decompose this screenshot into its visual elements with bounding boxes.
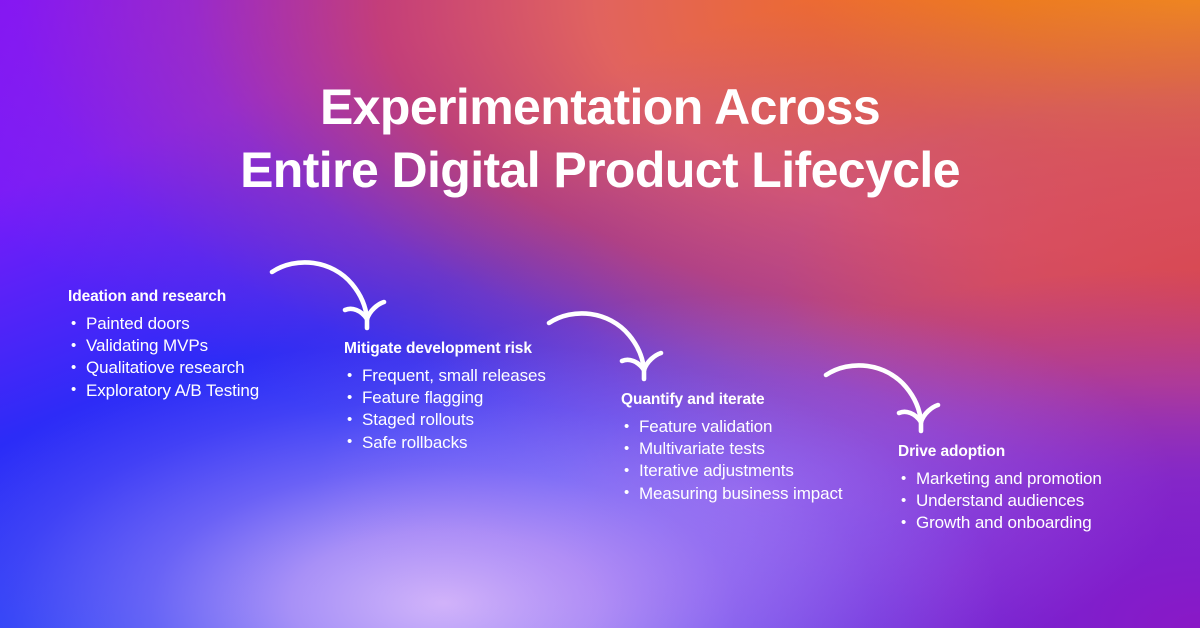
list-item: Growth and onboarding (898, 512, 1102, 534)
stage-heading: Ideation and research (68, 288, 259, 306)
page-title-line-2: Entire Digital Product Lifecycle (0, 139, 1200, 202)
list-item: Measuring business impact (621, 483, 842, 505)
infographic-content: Experimentation Across Entire Digital Pr… (0, 0, 1200, 628)
stage-item-list: Feature validation Multivariate tests It… (621, 416, 842, 505)
stage-heading: Quantify and iterate (621, 391, 842, 409)
list-item: Marketing and promotion (898, 468, 1102, 490)
list-item: Feature validation (621, 416, 842, 438)
list-item: Iterative adjustments (621, 460, 842, 482)
stage-item-list: Painted doors Validating MVPs Qualitatio… (68, 313, 259, 402)
list-item: Exploratory A/B Testing (68, 380, 259, 402)
stage-item-list: Frequent, small releases Feature flaggin… (344, 365, 546, 454)
list-item: Understand audiences (898, 490, 1102, 512)
stage-block-ideation-and-research: Ideation and research Painted doors Vali… (68, 288, 259, 402)
list-item: Qualitatiove research (68, 357, 259, 379)
list-item: Painted doors (68, 313, 259, 335)
list-item: Feature flagging (344, 387, 546, 409)
list-item: Multivariate tests (621, 438, 842, 460)
list-item: Frequent, small releases (344, 365, 546, 387)
stage-block-mitigate-development-risk: Mitigate development risk Frequent, smal… (344, 340, 546, 454)
list-item: Validating MVPs (68, 335, 259, 357)
page-title: Experimentation Across Entire Digital Pr… (0, 76, 1200, 202)
stage-heading: Mitigate development risk (344, 340, 546, 358)
list-item: Staged rollouts (344, 409, 546, 431)
stage-block-quantify-and-iterate: Quantify and iterate Feature validation … (621, 391, 842, 505)
page-title-line-1: Experimentation Across (0, 76, 1200, 139)
stage-block-drive-adoption: Drive adoption Marketing and promotion U… (898, 443, 1102, 535)
stage-item-list: Marketing and promotion Understand audie… (898, 468, 1102, 535)
stage-heading: Drive adoption (898, 443, 1102, 461)
list-item: Safe rollbacks (344, 432, 546, 454)
